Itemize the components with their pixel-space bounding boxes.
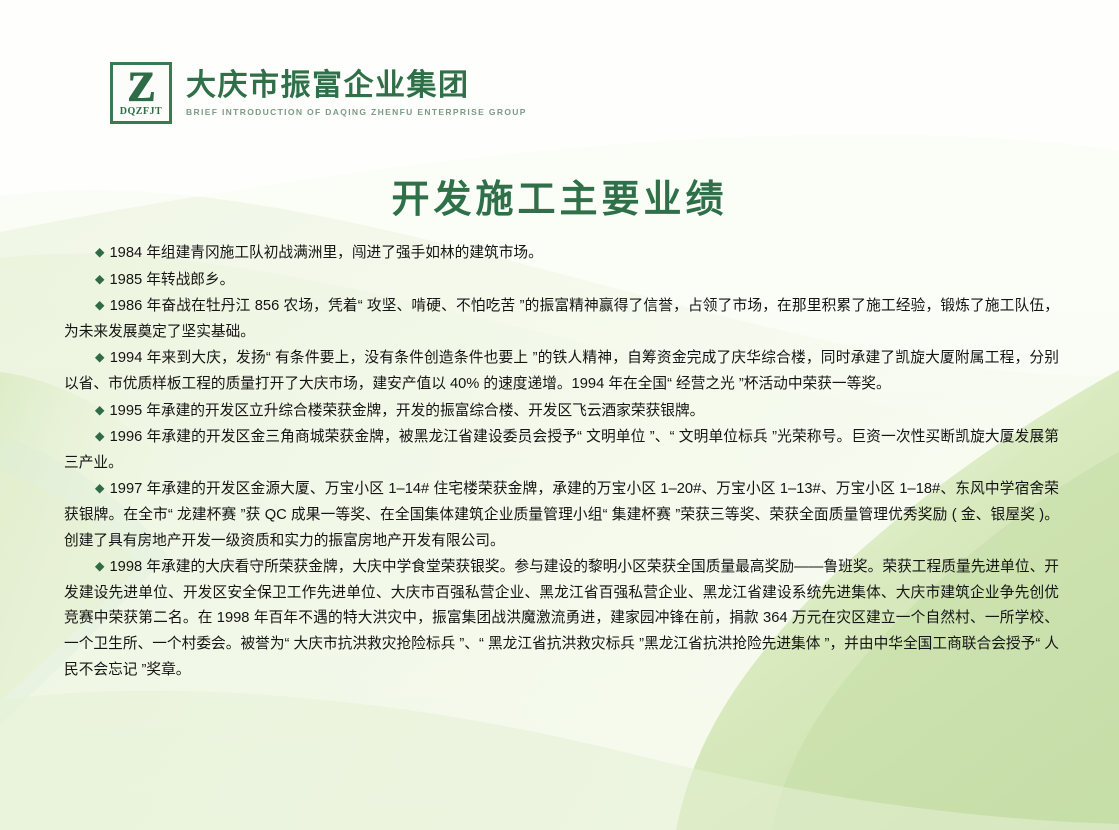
logo-abbreviation: DQZFJT (120, 107, 162, 117)
achievement-paragraph: ◆1986 年奋战在牡丹江 856 农场，凭着“ 攻坚、啃硬、不怕吃苦 ”的振富… (64, 293, 1059, 345)
paragraph-text: 1984 年组建青冈施工队初战满洲里，闯进了强手如林的建筑市场。 (109, 245, 542, 261)
achievement-paragraph: ◆1985 年转战郎乡。 (64, 267, 1059, 294)
body-content: ◆1984 年组建青冈施工队初战满洲里，闯进了强手如林的建筑市场。◆1985 年… (64, 240, 1059, 683)
paragraph-text: 1998 年承建的大庆看守所荣获金牌，大庆中学食堂荣获银奖。参与建设的黎明小区荣… (64, 559, 1059, 677)
paragraph-text: 1994 年来到大庆，发扬“ 有条件要上，没有条件创造条件也要上 ”的铁人精神，… (64, 350, 1059, 392)
achievement-paragraph: ◆1995 年承建的开发区立升综合楼荣获金牌，开发的振富综合楼、开发区飞云酒家荣… (64, 398, 1059, 425)
achievement-paragraph: ◆1984 年组建青冈施工队初战满洲里，闯进了强手如林的建筑市场。 (64, 240, 1059, 267)
paragraph-text: 1995 年承建的开发区立升综合楼荣获金牌，开发的振富综合楼、开发区飞云酒家荣获… (109, 403, 704, 419)
paragraph-text: 1996 年承建的开发区金三角商城荣获金牌，被黑龙江省建设委员会授予“ 文明单位… (64, 429, 1059, 471)
brand-name-en: BRIEF INTRODUCTION OF DAQING ZHENFU ENTE… (186, 108, 527, 117)
document-page: Z DQZFJT 大庆市振富企业集团 BRIEF INTRODUCTION OF… (0, 0, 1119, 830)
achievement-paragraph: ◆1997 年承建的开发区金源大厦、万宝小区 1–14# 住宅楼荣获金牌，承建的… (64, 476, 1059, 554)
diamond-bullet-icon: ◆ (95, 350, 105, 364)
achievement-paragraph: ◆1994 年来到大庆，发扬“ 有条件要上，没有条件创造条件也要上 ”的铁人精神… (64, 345, 1059, 397)
achievement-paragraph: ◆1996 年承建的开发区金三角商城荣获金牌，被黑龙江省建设委员会授予“ 文明单… (64, 424, 1059, 476)
paragraph-text: 1985 年转战郎乡。 (109, 272, 234, 288)
diamond-bullet-icon: ◆ (95, 481, 105, 495)
paragraph-text: 1986 年奋战在牡丹江 856 农场，凭着“ 攻坚、啃硬、不怕吃苦 ”的振富精… (64, 298, 1059, 340)
brand-block: 大庆市振富企业集团 BRIEF INTRODUCTION OF DAQING Z… (186, 69, 527, 116)
achievement-paragraph: ◆1998 年承建的大庆看守所荣获金牌，大庆中学食堂荣获银奖。参与建设的黎明小区… (64, 554, 1059, 683)
logo-letter: Z (127, 71, 154, 105)
company-header: Z DQZFJT 大庆市振富企业集团 BRIEF INTRODUCTION OF… (110, 62, 527, 124)
brand-name-cn: 大庆市振富企业集团 (186, 69, 527, 103)
diamond-bullet-icon: ◆ (95, 559, 105, 573)
diamond-bullet-icon: ◆ (95, 272, 105, 286)
paragraph-text: 1997 年承建的开发区金源大厦、万宝小区 1–14# 住宅楼荣获金牌，承建的万… (64, 481, 1059, 548)
page-title: 开发施工主要业绩 (0, 168, 1119, 223)
diamond-bullet-icon: ◆ (95, 429, 105, 443)
diamond-bullet-icon: ◆ (95, 245, 105, 259)
company-logo-icon: Z DQZFJT (110, 62, 172, 124)
diamond-bullet-icon: ◆ (95, 403, 105, 417)
diamond-bullet-icon: ◆ (95, 298, 105, 312)
